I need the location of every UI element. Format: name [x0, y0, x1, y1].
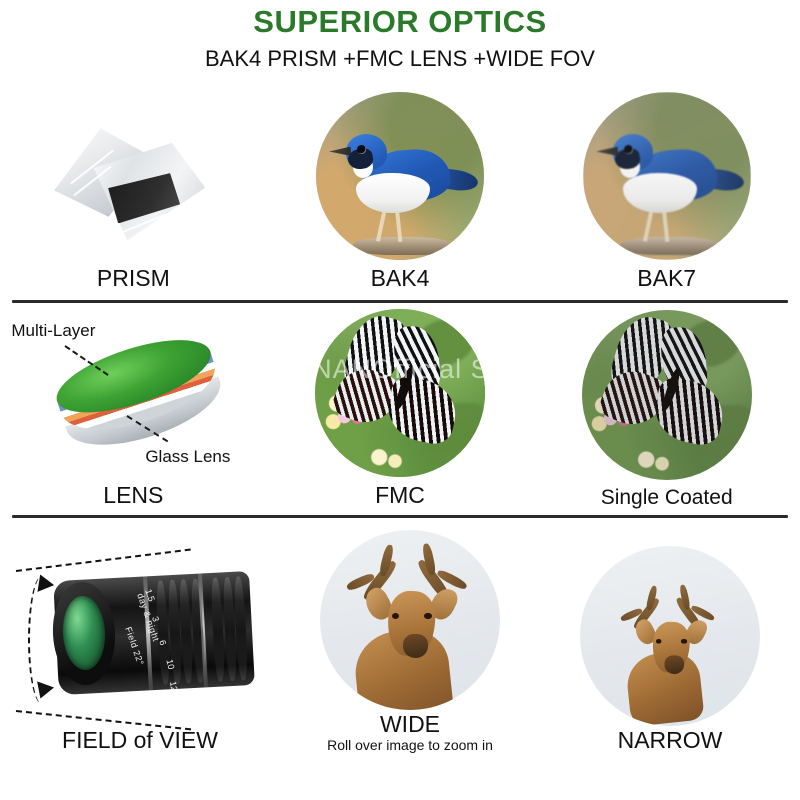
prism-illustration — [43, 92, 223, 260]
objective-lens-glass — [61, 595, 107, 671]
row-field-of-view: 1.5 3 6 10 12 day & night Field 22° FIEL… — [0, 526, 800, 754]
caption-lens: LENS — [103, 483, 163, 508]
fov-cone-line-bottom — [16, 710, 191, 730]
field-of-view-label: Field 22° — [124, 626, 147, 667]
butterfly-photo-dull[interactable] — [582, 310, 752, 480]
cell-wide: WIDE Roll over image to zoom in — [280, 526, 540, 754]
divider-row-2 — [12, 515, 788, 518]
bird-scene-dull — [583, 92, 751, 260]
deer-figure — [320, 530, 500, 710]
deer-scene-narrow — [580, 546, 760, 726]
deer-eye — [392, 613, 399, 619]
butterfly-scene-dull — [582, 310, 752, 480]
deer-eye — [424, 613, 431, 619]
deer-photo-wide[interactable] — [320, 530, 500, 710]
scale-number: 10 — [165, 658, 177, 670]
cell-field-of-view: 1.5 3 6 10 12 day & night Field 22° FIEL… — [0, 526, 280, 754]
cell-bak4: BAK4 — [267, 85, 534, 292]
caption-bak4: BAK4 — [371, 266, 430, 291]
bird-eye — [624, 145, 633, 154]
barrel-scale-markings: 1.5 3 6 10 12 day & night Field 22° — [118, 582, 196, 692]
deer-muzzle — [403, 634, 428, 657]
butterfly-photo-vivid[interactable]: NANOfficial St — [315, 309, 485, 478]
deer-figure — [600, 575, 740, 715]
infographic-header: SUPERIOR OPTICS BAK4 PRISM +FMC LENS +WI… — [0, 0, 800, 71]
row-lens: Multi-Layer Glass Lens LENS NANOffic — [0, 309, 800, 509]
cell-prism: PRISM — [0, 85, 267, 292]
lens-disc — [49, 325, 229, 457]
bird-photo-sharp[interactable] — [316, 92, 484, 260]
caption-single-coated: Single Coated — [601, 486, 733, 509]
monocular-illustration: 1.5 3 6 10 12 day & night Field 22° — [0, 538, 280, 728]
caption-bak7: BAK7 — [637, 266, 696, 291]
caption-prism: PRISM — [97, 266, 170, 291]
bird-scene-sharp — [316, 92, 484, 260]
caption-field-of-view: FIELD of VIEW — [62, 728, 218, 753]
cell-lens: Multi-Layer Glass Lens LENS — [0, 309, 267, 509]
cell-fmc: NANOfficial St FMC — [267, 309, 534, 509]
cell-single-coated: Single Coated — [533, 309, 800, 509]
page-subtitle: BAK4 PRISM +FMC LENS +WIDE FOV — [0, 47, 800, 71]
deer-photo-narrow[interactable] — [580, 546, 760, 726]
divider-row-1 — [12, 300, 788, 303]
zoom-hint-text: Roll over image to zoom in — [327, 738, 493, 753]
caption-fmc: FMC — [375, 483, 425, 508]
cell-bak7: BAK7 — [533, 85, 800, 292]
scale-number: 12 — [168, 680, 180, 692]
cell-narrow: NARROW — [540, 526, 800, 754]
caption-narrow: NARROW — [618, 728, 723, 753]
fov-cone-line-top — [16, 549, 191, 572]
caption-wide: WIDE — [380, 712, 440, 737]
lens-layer-diagram: Multi-Layer Glass Lens — [3, 319, 263, 479]
monocular-body-group: 1.5 3 6 10 12 day & night Field 22° — [0, 538, 280, 728]
row-prism: PRISM BAK4 — [0, 85, 800, 292]
flower-cluster — [633, 446, 677, 480]
deer-scene-wide — [320, 530, 500, 710]
bird-photo-blurry[interactable] — [583, 92, 751, 260]
butterfly-scene-vivid — [315, 309, 485, 478]
page-title: SUPERIOR OPTICS — [0, 6, 800, 39]
annotation-glass-lens: Glass Lens — [145, 447, 230, 467]
bird-eye — [357, 145, 366, 154]
lens-diagram-body: Multi-Layer Glass Lens — [3, 319, 263, 479]
annotation-multi-layer: Multi-Layer — [11, 321, 95, 341]
